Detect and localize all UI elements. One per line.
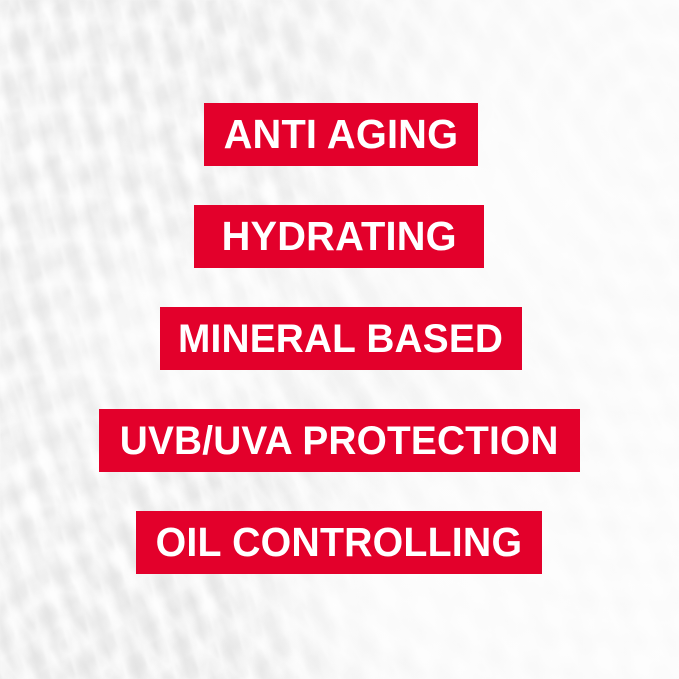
benefit-banner-anti-aging: ANTI AGING [204, 103, 478, 166]
benefit-banner-mineral-based: MINERAL BASED [160, 307, 522, 370]
benefit-banner-stack: ANTI AGINGHYDRATINGMINERAL BASEDUVB/UVA … [0, 0, 679, 679]
benefit-banner-label: MINERAL BASED [178, 319, 503, 359]
benefit-banner-hydrating: HYDRATING [194, 205, 484, 268]
benefit-banner-label: UVB/UVA PROTECTION [120, 421, 559, 461]
benefit-banner-uvb-uva-protection: UVB/UVA PROTECTION [99, 409, 580, 472]
benefit-banner-label: OIL CONTROLLING [156, 522, 523, 563]
benefit-banner-label: HYDRATING [221, 216, 456, 257]
benefit-banner-label: ANTI AGING [224, 114, 459, 155]
product-benefits-graphic: ANTI AGINGHYDRATINGMINERAL BASEDUVB/UVA … [0, 0, 679, 679]
benefit-banner-oil-controlling: OIL CONTROLLING [136, 511, 542, 574]
